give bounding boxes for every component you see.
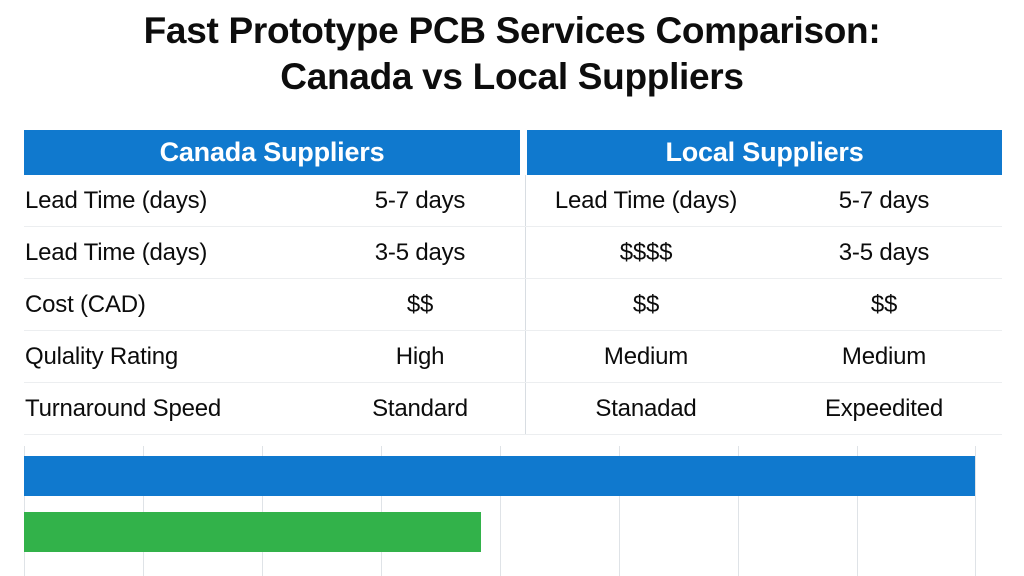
- cell-left-label: Qulality Rating: [24, 331, 315, 382]
- table-row: Lead Time (days) 5-7 days Lead Time (day…: [24, 175, 1002, 227]
- table-row: Qulality Rating High Medium Medium: [24, 331, 1002, 383]
- cell-left-label: Lead Time (days): [24, 175, 315, 226]
- cell-right-b: $$: [766, 279, 1002, 330]
- chart-bar-1: [24, 456, 975, 496]
- cell-left-label: Turnaround Speed: [24, 383, 315, 434]
- header-divider: [520, 130, 527, 175]
- cell-right-b: Expeedited: [766, 383, 1002, 434]
- chart-bars: [24, 446, 1004, 576]
- cell-right-b: 3-5 days: [766, 227, 1002, 278]
- cell-right-a: Stanadad: [526, 383, 766, 434]
- cell-left-label: Lead Time (days): [24, 227, 315, 278]
- cell-right-a: Medium: [526, 331, 766, 382]
- cell-left-label: Cost (CAD): [24, 279, 315, 330]
- table-row: Cost (CAD) $$ $$ $$: [24, 279, 1002, 331]
- cell-right-b: Medium: [766, 331, 1002, 382]
- cell-left-value: 5-7 days: [315, 175, 525, 226]
- cell-left-value: High: [315, 331, 525, 382]
- cell-right-b: 5-7 days: [766, 175, 1002, 226]
- cell-right-a: Lead Time (days): [526, 175, 766, 226]
- table-header-row: Canada Suppliers Local Suppliers: [24, 130, 1002, 175]
- page-title: Fast Prototype PCB Services Comparison: …: [0, 8, 1024, 100]
- cell-left-value: Standard: [315, 383, 525, 434]
- page-title-line-1: Fast Prototype PCB Services Comparison:: [0, 8, 1024, 54]
- comparison-table: Canada Suppliers Local Suppliers Lead Ti…: [24, 130, 1002, 435]
- chart-bar-2: [24, 512, 481, 552]
- bar-chart: [24, 446, 1004, 576]
- table-body: Lead Time (days) 5-7 days Lead Time (day…: [24, 175, 1002, 435]
- page-title-line-2: Canada vs Local Suppliers: [0, 54, 1024, 100]
- table-row: Lead Time (days) 3-5 days $$$$ 3-5 days: [24, 227, 1002, 279]
- cell-right-a: $$: [526, 279, 766, 330]
- cell-left-value: $$: [315, 279, 525, 330]
- cell-right-a: $$$$: [526, 227, 766, 278]
- table-header-local-suppliers: Local Suppliers: [527, 130, 1002, 175]
- table-row: Turnaround Speed Standard Stanadad Expee…: [24, 383, 1002, 435]
- cell-left-value: 3-5 days: [315, 227, 525, 278]
- table-header-canada-suppliers: Canada Suppliers: [24, 130, 520, 175]
